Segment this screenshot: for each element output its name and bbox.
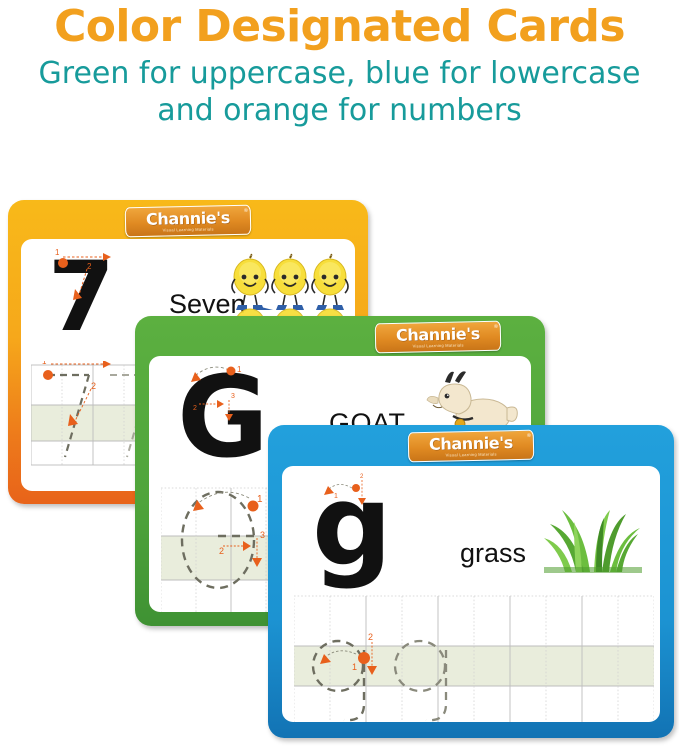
- registered-mark-icon: ®: [494, 324, 498, 330]
- stroke-number-2: 2: [91, 381, 96, 391]
- brand-name: Channie's: [146, 210, 230, 228]
- word-label-grass: grass: [460, 538, 526, 569]
- stroke-number-1: 1: [352, 662, 357, 672]
- stroke-number-1: 1: [55, 248, 60, 257]
- stroke-number-1: 1: [42, 361, 47, 366]
- card-blue-face: g 1 2 grass: [282, 466, 660, 722]
- stroke-number-1: 1: [237, 365, 242, 374]
- brand-name: Channie's: [429, 435, 513, 453]
- header-block: Color Designated Cards Green for upperca…: [0, 0, 679, 129]
- subtitle-line-1: Green for uppercase, blue for lowercase: [6, 56, 673, 93]
- page-subtitle: Green for uppercase, blue for lowercase …: [0, 56, 679, 129]
- registered-mark-icon: ®: [244, 208, 248, 214]
- brand-name: Channie's: [396, 326, 480, 344]
- brand-tagline: Visual Learning Materials: [413, 343, 464, 348]
- practice-grid-g: 1 2: [294, 592, 654, 722]
- card-blue-lowercase[interactable]: Channie's Visual Learning Materials ® g …: [268, 425, 674, 738]
- page-title: Color Designated Cards: [0, 4, 679, 50]
- stroke-number-1: 1: [257, 494, 263, 505]
- brand-logo-badge: Channie's Visual Learning Materials ®: [125, 205, 252, 238]
- registered-mark-icon: ®: [527, 433, 531, 439]
- brand-tagline: Visual Learning Materials: [163, 227, 214, 232]
- stroke-number-2: 2: [87, 262, 92, 271]
- brand-logo-badge: Channie's Visual Learning Materials ®: [375, 321, 502, 354]
- stroke-number-3: 3: [231, 393, 235, 400]
- brand-tagline: Visual Learning Materials: [446, 452, 497, 457]
- stroke-number-2: 2: [360, 474, 364, 480]
- stroke-number-1: 1: [334, 493, 338, 500]
- stroke-number-2: 2: [193, 405, 197, 412]
- stroke-number-2: 2: [219, 546, 224, 556]
- grass-icon: [538, 488, 648, 574]
- stroke-number-3: 3: [260, 530, 265, 540]
- stroke-guide-g: 1 2: [308, 472, 404, 552]
- stroke-number-2: 2: [368, 632, 373, 642]
- brand-logo-badge: Channie's Visual Learning Materials ®: [408, 430, 535, 463]
- stroke-guide-G: 1 2 3: [173, 360, 283, 470]
- subtitle-line-2: and orange for numbers: [6, 93, 673, 130]
